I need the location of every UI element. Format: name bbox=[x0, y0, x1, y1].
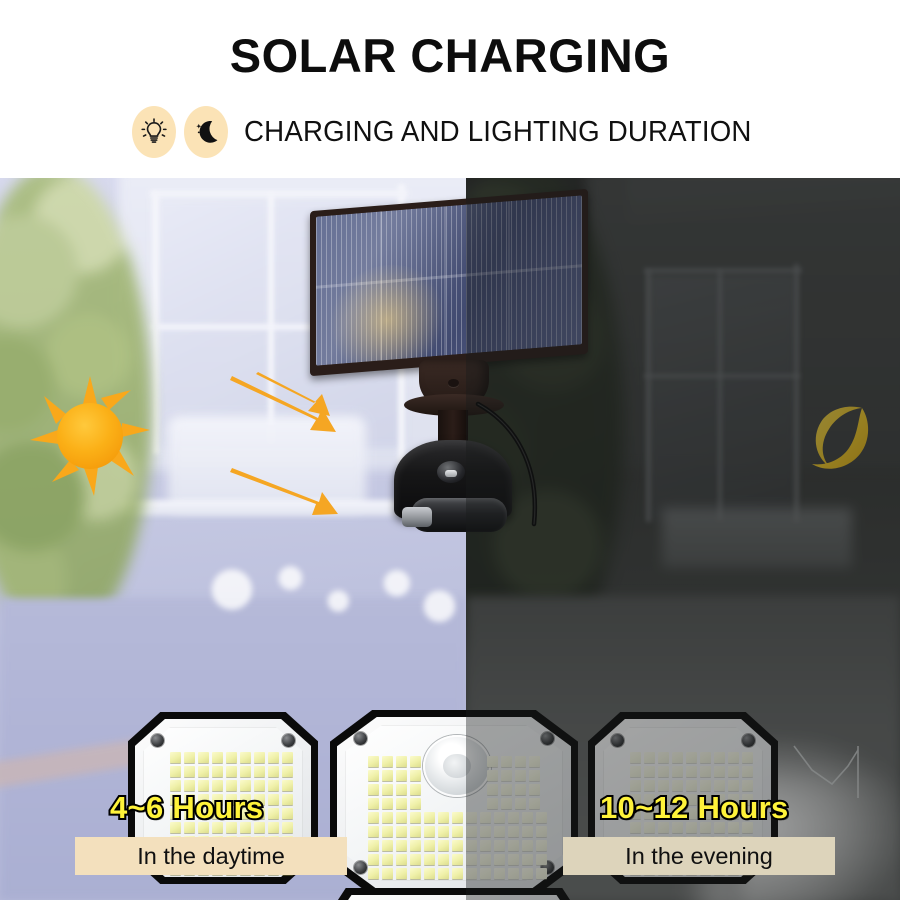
page-title: SOLAR CHARGING bbox=[0, 28, 900, 84]
infographic-root: SOLAR CHARGING bbox=[0, 0, 900, 900]
product-scene: 4~6 Hours In the daytime 10~12 Hours In … bbox=[0, 178, 900, 900]
caption-day-hours: 4~6 Hours bbox=[110, 790, 263, 826]
caption-day-band: In the daytime bbox=[75, 837, 347, 875]
sun-ray-arrow-3 bbox=[230, 468, 338, 515]
header: SOLAR CHARGING bbox=[0, 0, 900, 178]
subtitle-row: CHARGING AND LIGHTING DURATION bbox=[0, 104, 900, 160]
crescent-moon-icon bbox=[778, 402, 874, 486]
moon-stars-icon bbox=[191, 117, 221, 147]
sunlight-arrows bbox=[170, 368, 460, 548]
moon-badge bbox=[184, 106, 228, 158]
lightbulb-icon bbox=[139, 117, 169, 147]
caption-night-hours: 10~12 Hours bbox=[600, 790, 789, 826]
caption-night-band: In the evening bbox=[563, 837, 835, 875]
railing-wire bbox=[790, 726, 900, 836]
subtitle: CHARGING AND LIGHTING DURATION bbox=[244, 116, 752, 149]
night-hours-text: 10~12 Hours bbox=[600, 790, 789, 825]
lightbulb-badge bbox=[132, 106, 176, 158]
sun-icon bbox=[28, 374, 152, 498]
day-hours-text: 4~6 Hours bbox=[110, 790, 263, 825]
